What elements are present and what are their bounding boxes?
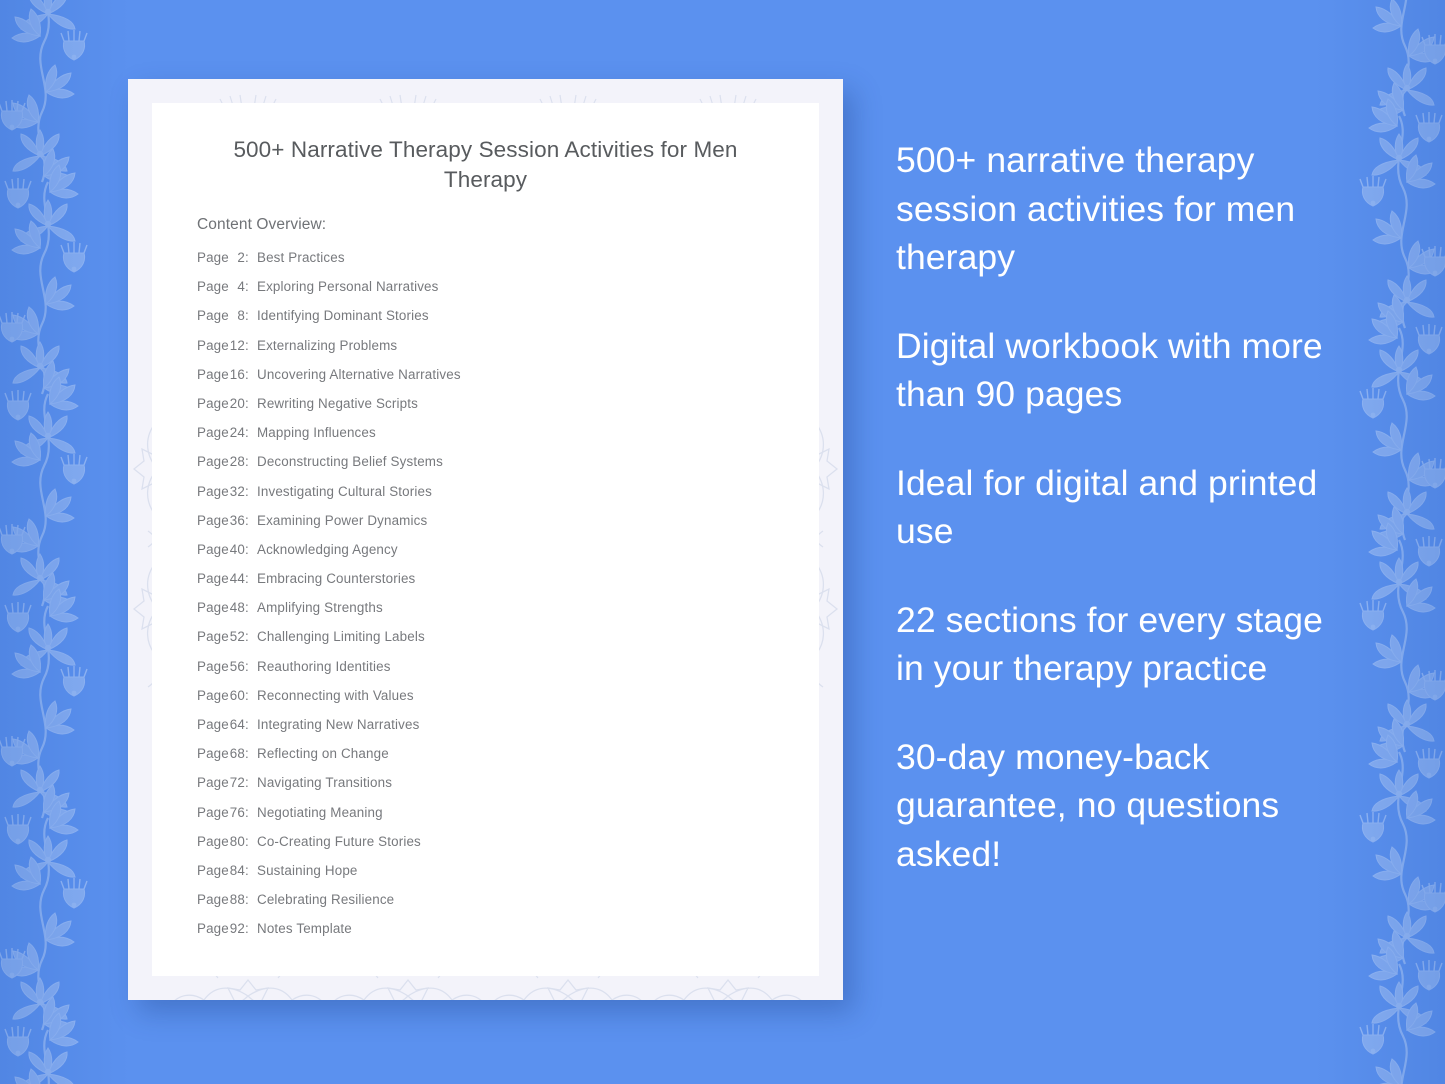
- toc-colon: :: [245, 396, 257, 411]
- marketing-bullet: Digital workbook with more than 90 pages: [896, 322, 1336, 419]
- toc-page-number: 60: [223, 688, 245, 703]
- toc-row: Page72:Navigating Transitions: [197, 775, 797, 804]
- floral-vine-left-icon: [0, 0, 114, 1084]
- toc-section-title: Challenging Limiting Labels: [257, 629, 425, 644]
- toc-section-title: Rewriting Negative Scripts: [257, 396, 418, 411]
- left-edge-shading: [0, 0, 130, 1084]
- marketing-bullet: 500+ narrative therapy session activitie…: [896, 136, 1336, 282]
- toc-colon: :: [245, 542, 257, 557]
- toc-colon: :: [245, 308, 257, 323]
- toc-row: Page28:Deconstructing Belief Systems: [197, 454, 797, 483]
- toc-row: Page8:Identifying Dominant Stories: [197, 308, 797, 337]
- toc-section-title: Navigating Transitions: [257, 775, 392, 790]
- toc-row: Page12:Externalizing Problems: [197, 338, 797, 367]
- toc-section-title: Embracing Counterstories: [257, 571, 415, 586]
- toc-colon: :: [245, 921, 257, 936]
- toc-page-word: Page: [197, 454, 223, 469]
- toc-colon: :: [245, 338, 257, 353]
- toc-row: Page60:Reconnecting with Values: [197, 688, 797, 717]
- toc-row: Page48:Amplifying Strengths: [197, 600, 797, 629]
- toc-section-title: Co-Creating Future Stories: [257, 834, 421, 849]
- toc-page-word: Page: [197, 279, 223, 294]
- toc-page-word: Page: [197, 513, 223, 528]
- toc-row: Page24:Mapping Influences: [197, 425, 797, 454]
- toc-page-word: Page: [197, 834, 223, 849]
- toc-section-title: Celebrating Resilience: [257, 892, 394, 907]
- floral-vine-right-icon: [1333, 0, 1445, 1084]
- toc-row: Page32:Investigating Cultural Stories: [197, 484, 797, 513]
- toc-colon: :: [245, 805, 257, 820]
- toc-section-title: Negotiating Meaning: [257, 805, 383, 820]
- toc-colon: :: [245, 571, 257, 586]
- toc-section-title: Notes Template: [257, 921, 352, 936]
- toc-section-title: Identifying Dominant Stories: [257, 308, 429, 323]
- toc-section-title: Deconstructing Belief Systems: [257, 454, 443, 469]
- toc-row: Page36:Examining Power Dynamics: [197, 513, 797, 542]
- toc-colon: :: [245, 892, 257, 907]
- toc-page-word: Page: [197, 250, 223, 265]
- toc-colon: :: [245, 484, 257, 499]
- document-title: 500+ Narrative Therapy Session Activitie…: [192, 135, 779, 195]
- toc-section-title: Uncovering Alternative Narratives: [257, 367, 461, 382]
- toc-page-number: 80: [223, 834, 245, 849]
- toc-page-word: Page: [197, 425, 223, 440]
- toc-page-word: Page: [197, 629, 223, 644]
- toc-page-word: Page: [197, 688, 223, 703]
- toc-page-word: Page: [197, 659, 223, 674]
- content-overview-label: Content Overview:: [197, 216, 326, 234]
- toc-page-number: 32: [223, 484, 245, 499]
- toc-page-word: Page: [197, 775, 223, 790]
- toc-row: Page52:Challenging Limiting Labels: [197, 629, 797, 658]
- toc-page-word: Page: [197, 367, 223, 382]
- toc-section-title: Reauthoring Identities: [257, 659, 391, 674]
- toc-page-number: 4: [223, 279, 245, 294]
- toc-page-word: Page: [197, 921, 223, 936]
- toc-colon: :: [245, 717, 257, 732]
- toc-page-number: 88: [223, 892, 245, 907]
- toc-page-word: Page: [197, 308, 223, 323]
- toc-page-word: Page: [197, 746, 223, 761]
- toc-colon: :: [245, 775, 257, 790]
- toc-page-number: 24: [223, 425, 245, 440]
- toc-page-number: 8: [223, 308, 245, 323]
- toc-row: Page64:Integrating New Narratives: [197, 717, 797, 746]
- toc-colon: :: [245, 659, 257, 674]
- toc-section-title: Acknowledging Agency: [257, 542, 398, 557]
- toc-page-number: 16: [223, 367, 245, 382]
- toc-row: Page16:Uncovering Alternative Narratives: [197, 367, 797, 396]
- document-preview-card[interactable]: 500+ Narrative Therapy Session Activitie…: [128, 79, 843, 1000]
- toc-page-number: 36: [223, 513, 245, 528]
- marketing-copy-column: 500+ narrative therapy session activitie…: [896, 136, 1336, 878]
- toc-colon: :: [245, 454, 257, 469]
- toc-page-number: 48: [223, 600, 245, 615]
- toc-colon: :: [245, 629, 257, 644]
- toc-colon: :: [245, 600, 257, 615]
- toc-row: Page68:Reflecting on Change: [197, 746, 797, 775]
- toc-section-title: Best Practices: [257, 250, 345, 265]
- toc-colon: :: [245, 425, 257, 440]
- toc-row: Page44:Embracing Counterstories: [197, 571, 797, 600]
- toc-section-title: Exploring Personal Narratives: [257, 279, 438, 294]
- toc-page-number: 92: [223, 921, 245, 936]
- toc-page-number: 44: [223, 571, 245, 586]
- toc-page-word: Page: [197, 717, 223, 732]
- toc-colon: :: [245, 250, 257, 265]
- toc-page-number: 12: [223, 338, 245, 353]
- toc-page-number: 20: [223, 396, 245, 411]
- toc-page-number: 52: [223, 629, 245, 644]
- toc-row: Page56:Reauthoring Identities: [197, 659, 797, 688]
- toc-page-number: 84: [223, 863, 245, 878]
- toc-page-number: 76: [223, 805, 245, 820]
- toc-page-word: Page: [197, 805, 223, 820]
- toc-colon: :: [245, 513, 257, 528]
- toc-page-word: Page: [197, 396, 223, 411]
- toc-page-number: 56: [223, 659, 245, 674]
- toc-page-number: 64: [223, 717, 245, 732]
- toc-page-number: 2: [223, 250, 245, 265]
- toc-row: Page2:Best Practices: [197, 250, 797, 279]
- toc-colon: :: [245, 746, 257, 761]
- toc-colon: :: [245, 834, 257, 849]
- toc-section-title: Amplifying Strengths: [257, 600, 383, 615]
- toc-section-title: Examining Power Dynamics: [257, 513, 427, 528]
- toc-page-word: Page: [197, 338, 223, 353]
- toc-section-title: Integrating New Narratives: [257, 717, 419, 732]
- toc-row: Page84:Sustaining Hope: [197, 863, 797, 892]
- toc-colon: :: [245, 367, 257, 382]
- toc-section-title: Externalizing Problems: [257, 338, 397, 353]
- toc-section-title: Investigating Cultural Stories: [257, 484, 432, 499]
- toc-row: Page4:Exploring Personal Narratives: [197, 279, 797, 308]
- marketing-bullet: 22 sections for every stage in your ther…: [896, 596, 1336, 693]
- toc-row: Page76:Negotiating Meaning: [197, 805, 797, 834]
- toc-page-word: Page: [197, 863, 223, 878]
- document-page: 500+ Narrative Therapy Session Activitie…: [152, 103, 819, 976]
- marketing-bullet: Ideal for digital and printed use: [896, 459, 1336, 556]
- toc-row: Page80:Co-Creating Future Stories: [197, 834, 797, 863]
- toc-row: Page40:Acknowledging Agency: [197, 542, 797, 571]
- toc-page-word: Page: [197, 600, 223, 615]
- toc-colon: :: [245, 279, 257, 294]
- toc-colon: :: [245, 863, 257, 878]
- table-of-contents-list: Page2:Best PracticesPage4:Exploring Pers…: [197, 250, 797, 951]
- toc-page-word: Page: [197, 484, 223, 499]
- toc-row: Page20:Rewriting Negative Scripts: [197, 396, 797, 425]
- toc-page-word: Page: [197, 571, 223, 586]
- toc-row: Page88:Celebrating Resilience: [197, 892, 797, 921]
- marketing-bullet: 30-day money-back guarantee, no question…: [896, 733, 1336, 879]
- toc-section-title: Reflecting on Change: [257, 746, 389, 761]
- toc-colon: :: [245, 688, 257, 703]
- toc-page-word: Page: [197, 892, 223, 907]
- toc-section-title: Reconnecting with Values: [257, 688, 414, 703]
- toc-page-number: 28: [223, 454, 245, 469]
- toc-page-number: 72: [223, 775, 245, 790]
- toc-page-number: 68: [223, 746, 245, 761]
- toc-page-word: Page: [197, 542, 223, 557]
- toc-row: Page92:Notes Template: [197, 921, 797, 950]
- toc-page-number: 40: [223, 542, 245, 557]
- toc-section-title: Mapping Influences: [257, 425, 376, 440]
- toc-section-title: Sustaining Hope: [257, 863, 358, 878]
- product-listing-image: 500+ Narrative Therapy Session Activitie…: [0, 0, 1445, 1084]
